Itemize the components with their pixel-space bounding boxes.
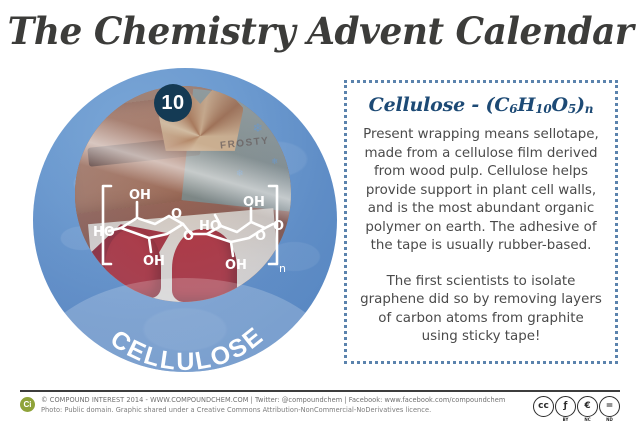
snowflake-icon-3: ❄ (271, 157, 278, 166)
copyright-line: © COMPOUND INTEREST 2014 - WWW.COMPOUNDC… (41, 396, 533, 406)
nc-icon: € NC (577, 396, 598, 417)
compound-title-name: Cellulose - (369, 94, 486, 116)
creative-commons-badges: cc ƒ BY € NC = ND (533, 396, 620, 417)
info-body: Present wrapping means sellotape, made f… (359, 126, 603, 347)
by-glyph: ƒ (564, 402, 568, 411)
by-sub: BY (556, 417, 575, 422)
day-number-badge: 10 (154, 84, 192, 122)
nd-glyph: = (606, 402, 614, 411)
compound-name-label: CELLULOSE (105, 321, 269, 372)
advent-day-circle[interactable]: FROSTY ❄ ❄ ❄ (33, 68, 337, 372)
compound-formula: (C6H10O5)n (486, 94, 594, 116)
compound-interest-logo: Ci (20, 397, 35, 412)
red-letter-a (105, 229, 161, 298)
licence-line: Photo: Public domain. Graphic shared und… (41, 406, 533, 416)
compound-title: Cellulose - (C6H10O5)n (359, 94, 603, 116)
cc-glyph: cc (538, 402, 549, 411)
info-paragraph-1: Present wrapping means sellotape, made f… (359, 126, 603, 256)
nc-glyph: € (584, 402, 590, 411)
nd-icon: = ND (599, 396, 620, 417)
page-header: The Chemistry Advent Calendar (0, 0, 640, 62)
footer-text-block: © COMPOUND INTEREST 2014 - WWW.COMPOUNDC… (41, 395, 533, 415)
footer: Ci © COMPOUND INTEREST 2014 - WWW.COMPOU… (20, 395, 620, 421)
info-panel: Cellulose - (C6H10O5)n Present wrapping … (344, 80, 618, 364)
info-paragraph-2: The first scientists to isolate graphene… (359, 273, 603, 347)
footer-divider (20, 390, 620, 392)
by-icon: ƒ BY (555, 396, 576, 417)
snowflake-icon-2: ❄ (236, 168, 244, 179)
nc-sub: NC (578, 417, 597, 422)
nd-sub: ND (600, 417, 619, 422)
snowflake-icon-1: ❄ (253, 121, 263, 135)
cc-icon: cc (533, 396, 554, 417)
red-letter-b (172, 229, 237, 302)
page-title: The Chemistry Advent Calendar (7, 9, 633, 53)
